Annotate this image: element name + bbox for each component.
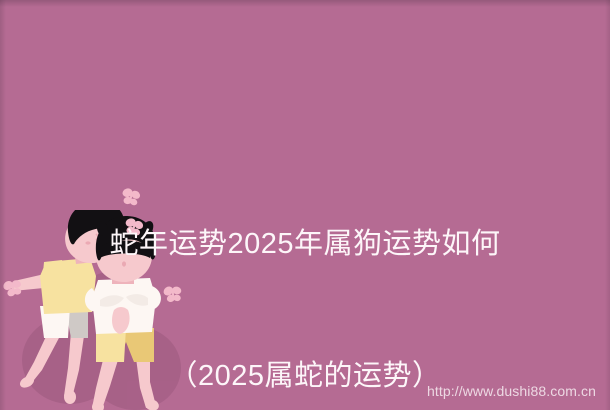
image-canvas: 蛇年运势2025年属狗运势如何 （2025属蛇的运势） http://www.d…	[0, 0, 610, 410]
title-line-1: 蛇年运势2025年属狗运势如何	[0, 222, 610, 266]
page-title: 蛇年运势2025年属狗运势如何 （2025属蛇的运势）	[0, 134, 610, 410]
source-watermark: http://www.dushi88.com.cn	[427, 383, 596, 399]
